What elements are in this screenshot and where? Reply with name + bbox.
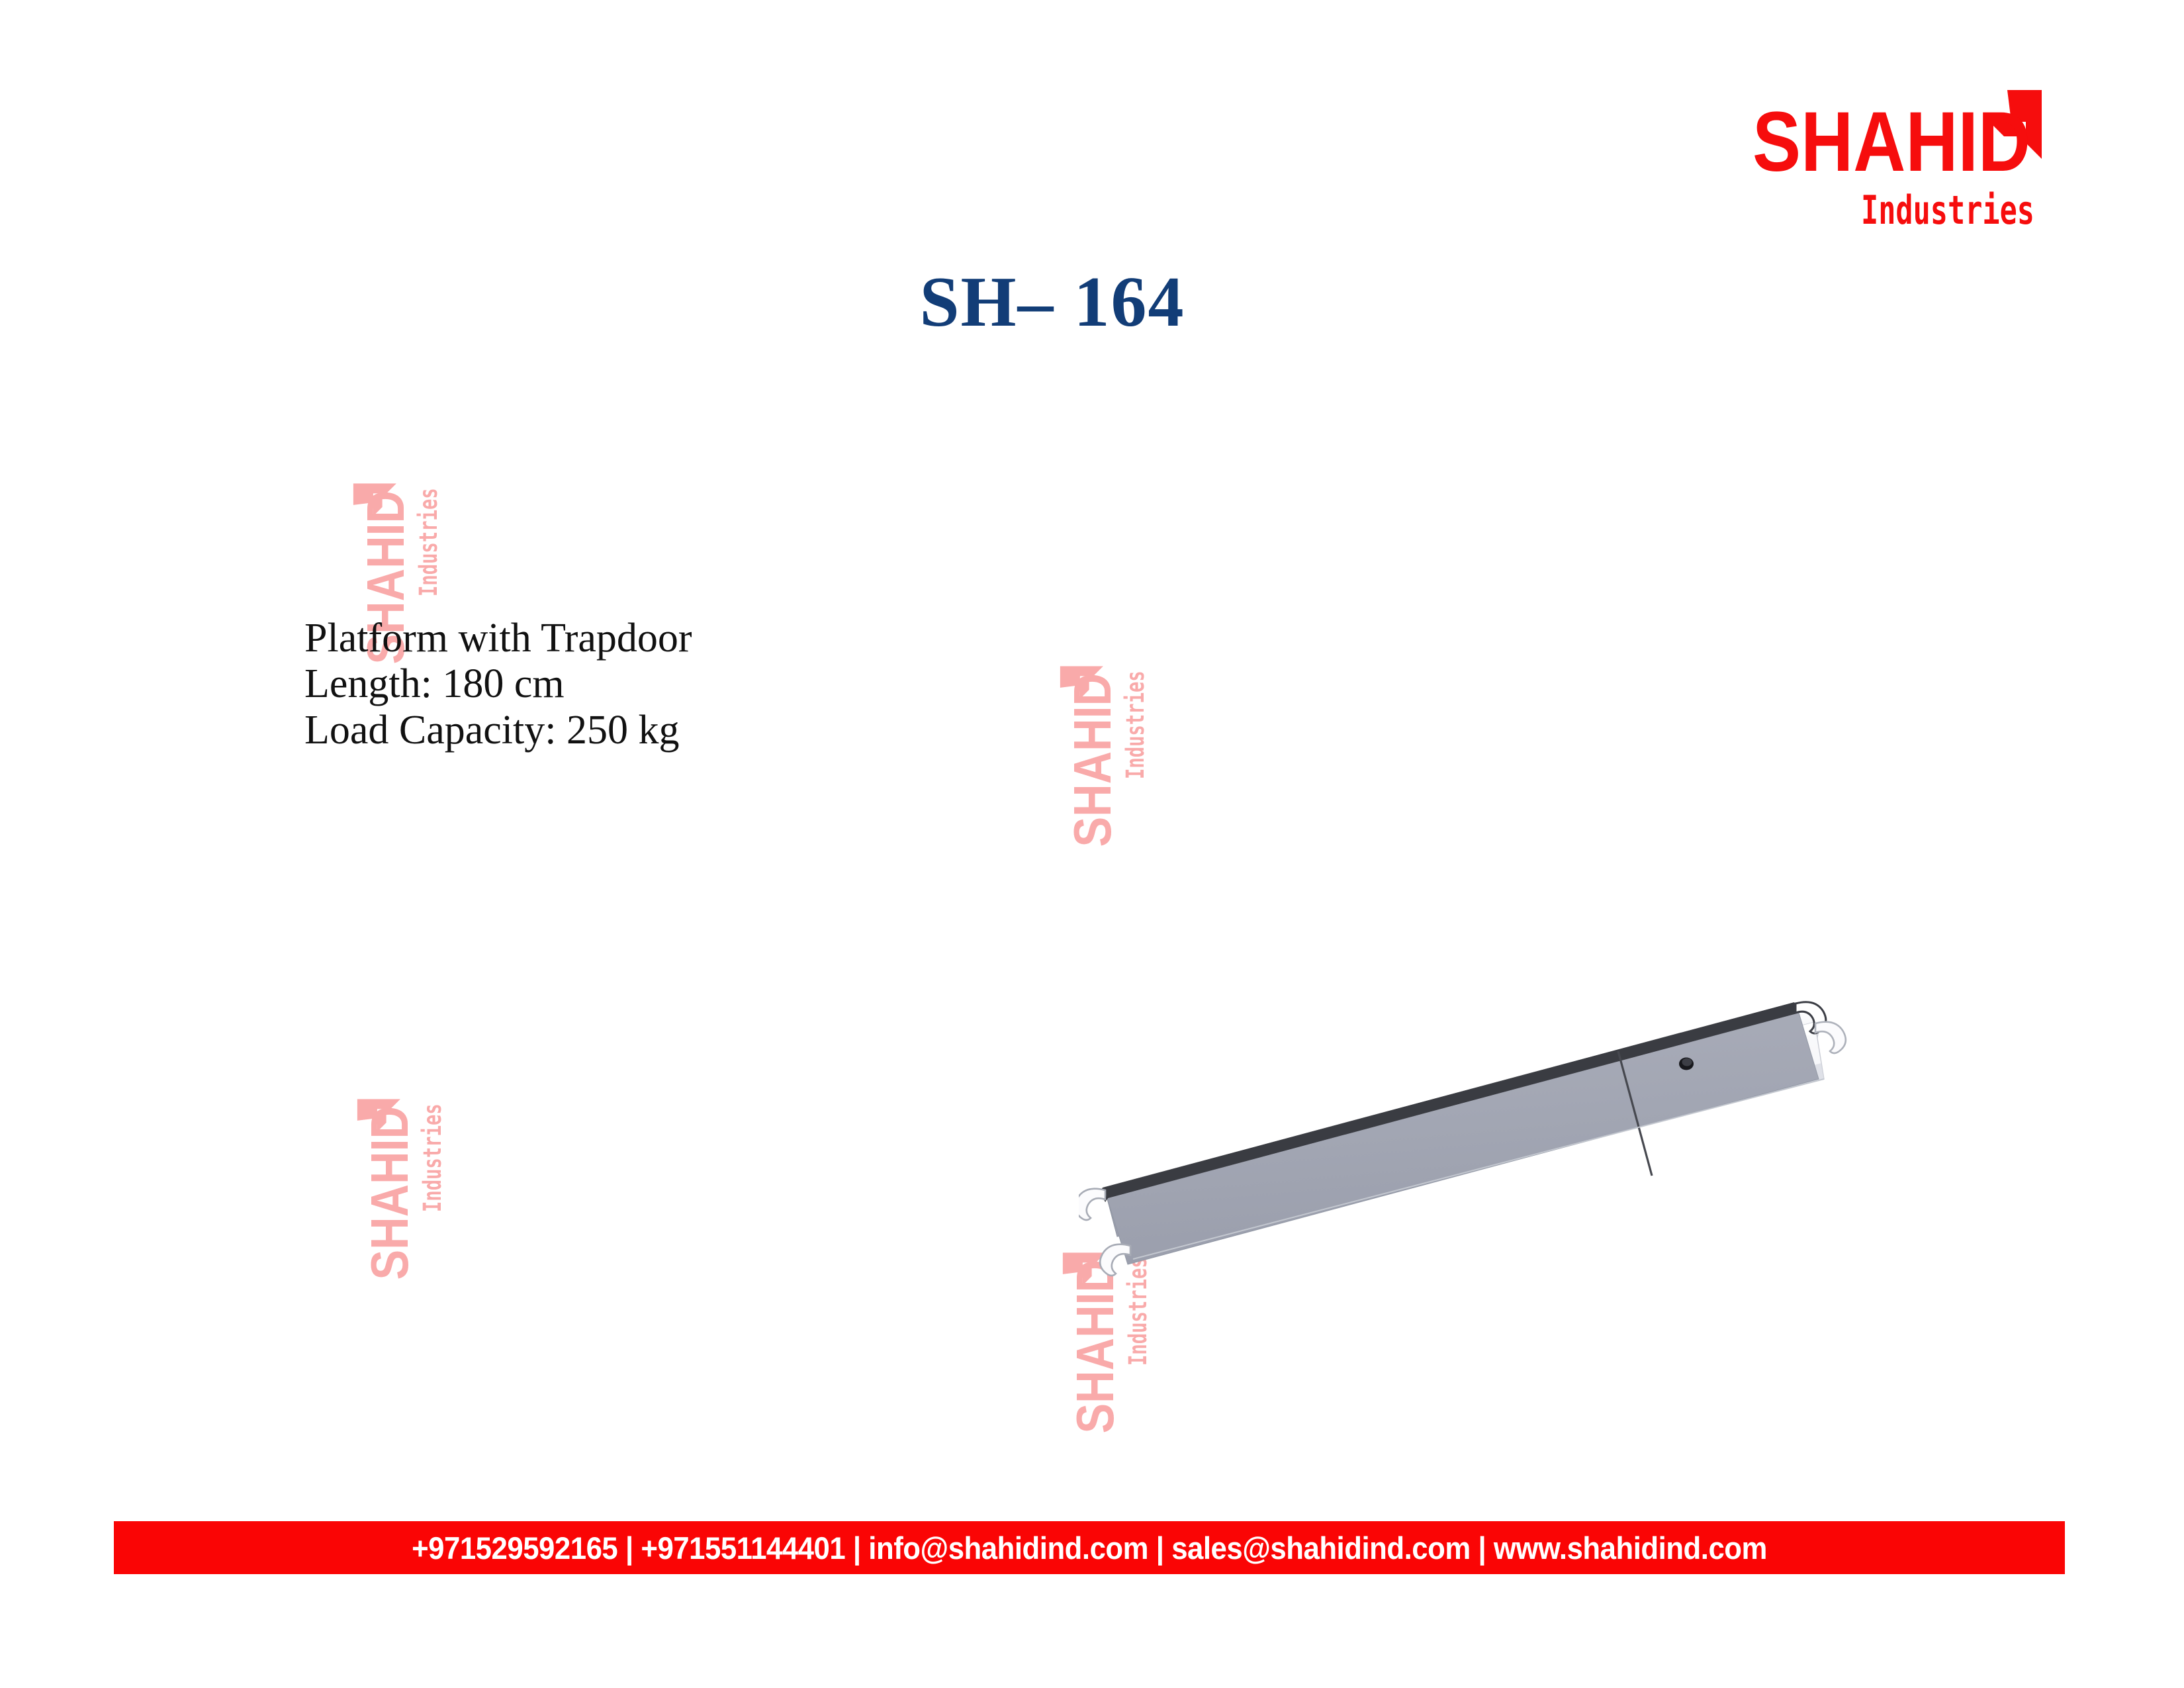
brand-logo: SHAHID Industries (1747, 86, 2065, 238)
svg-text:Industries: Industries (1120, 671, 1150, 779)
corner-hook-bottom-left (1100, 1244, 1130, 1276)
svg-text:SHAHID: SHAHID (1063, 673, 1122, 847)
footer-contact-text: +971529592165 | +971551144401 | info@sha… (412, 1530, 1767, 1566)
shahid-industries-logo-icon: SHAHID Industries (1747, 86, 2065, 238)
shahid-watermark-icon: SHAHID Industries (355, 1085, 451, 1284)
footer-contact-bar: +971529592165 | +971551144401 | info@sha… (114, 1521, 2065, 1574)
watermark-logo: SHAHID Industries (355, 1085, 451, 1284)
product-specifications: Platform with Trapdoor Length: 180 cm Lo… (304, 616, 692, 753)
svg-text:Industries: Industries (1861, 187, 2034, 234)
svg-text:SHAHID: SHAHID (360, 1106, 419, 1280)
watermark-logo: SHAHID Industries (1058, 652, 1154, 851)
spec-load-capacity: Load Capacity: 250 kg (304, 708, 692, 753)
spec-length: Length: 180 cm (304, 661, 692, 707)
spec-product-name: Platform with Trapdoor (304, 616, 692, 661)
scaffolding-platform-3d-render (1079, 880, 1860, 1291)
trapdoor-latch-hole (1679, 1058, 1694, 1070)
svg-text:Industries: Industries (418, 1103, 447, 1212)
platform-deck (1105, 1006, 1819, 1264)
page-title: SH– 164 (0, 263, 2105, 342)
shahid-watermark-icon: SHAHID Industries (1058, 652, 1154, 851)
corner-hook-right-lower (1815, 1022, 1846, 1053)
product-datasheet-page: SHAHID Industries SH– 164 SHAHID Industr… (0, 0, 2184, 1688)
corner-hook-left-upper (1079, 1189, 1105, 1220)
svg-text:SHAHID: SHAHID (1752, 95, 2030, 189)
svg-text:Industries: Industries (414, 488, 443, 596)
product-illustration (1079, 880, 1860, 1291)
